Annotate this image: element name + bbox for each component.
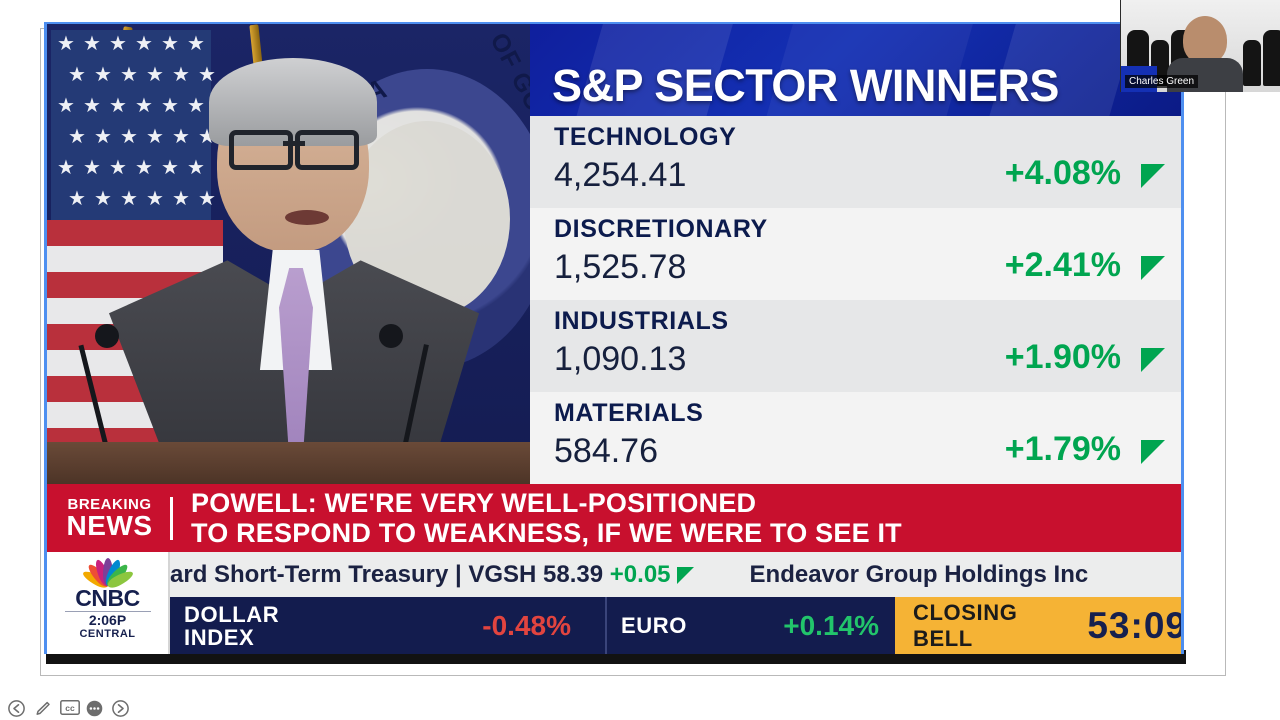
flag-star: ★ bbox=[68, 65, 86, 85]
sector-change: +1.79% bbox=[1005, 430, 1121, 469]
headline-line-1: POWELL: WE'RE VERY WELL-POSITIONED bbox=[191, 488, 902, 519]
flag-star: ★ bbox=[187, 158, 205, 178]
flag-star: ★ bbox=[198, 189, 216, 209]
clock-suffix: P bbox=[117, 612, 126, 628]
sector-trend-arrow-icon bbox=[1141, 348, 1165, 372]
dollar-index-label: DOLLAR INDEX bbox=[184, 603, 279, 649]
closing-bell-label: CLOSING BELL bbox=[913, 600, 1061, 652]
closing-bell-segment: CLOSING BELL 53:09 bbox=[895, 597, 1184, 654]
ticker-items: ard Short-Term Treasury | VGSH 58.39 +0.… bbox=[170, 561, 1088, 589]
panel-header: S&P SECTOR WINNERS bbox=[530, 24, 1184, 116]
sector-name: TECHNOLOGY bbox=[554, 123, 736, 152]
webcam-thumbnail[interactable]: Charles Green bbox=[1120, 0, 1280, 92]
flag-star: ★ bbox=[146, 189, 164, 209]
flag-star: ★ bbox=[172, 127, 190, 147]
euro-label: EURO bbox=[621, 614, 687, 637]
clock-value: 2:06 bbox=[89, 612, 117, 628]
ticker-item-2-name: Endeavor Group Holdings Inc bbox=[750, 561, 1089, 588]
cnbc-logo-block: CNBC 2:06P CENTRAL bbox=[47, 552, 170, 654]
chess-piece-icon bbox=[1243, 40, 1261, 86]
flag-star: ★ bbox=[94, 65, 112, 85]
stock-ticker-strip: ard Short-Term Treasury | VGSH 58.39 +0.… bbox=[47, 552, 1184, 597]
flag-star: ★ bbox=[135, 158, 153, 178]
flag-star: ★ bbox=[146, 127, 164, 147]
broadcast-timezone: CENTRAL bbox=[79, 628, 135, 640]
sector-value: 4,254.41 bbox=[554, 156, 686, 195]
dollar-label-line-1: DOLLAR bbox=[184, 603, 279, 626]
flag-star: ★ bbox=[135, 96, 153, 116]
chess-piece-icon bbox=[1263, 30, 1280, 86]
flag-star: ★ bbox=[57, 34, 75, 54]
flag-star: ★ bbox=[161, 34, 179, 54]
euro-change: +0.14% bbox=[783, 610, 879, 642]
flag-star: ★ bbox=[109, 158, 127, 178]
sector-change: +2.41% bbox=[1005, 246, 1121, 285]
ticker-trend-arrow-icon bbox=[677, 567, 694, 584]
flag-star: ★ bbox=[120, 127, 138, 147]
panel-title: S&P SECTOR WINNERS bbox=[552, 60, 1059, 112]
badge-line-2: NEWS bbox=[55, 512, 164, 540]
flag-star: ★ bbox=[187, 96, 205, 116]
flag-star: ★ bbox=[172, 65, 190, 85]
closed-caption-icon[interactable]: cc bbox=[60, 700, 77, 717]
closing-bell-countdown: 53:09 bbox=[1087, 605, 1184, 647]
glasses-bridge bbox=[283, 141, 305, 146]
flag-star: ★ bbox=[83, 34, 101, 54]
pen-icon[interactable] bbox=[34, 700, 51, 717]
microphone-head-right bbox=[379, 324, 403, 348]
flag-star: ★ bbox=[68, 127, 86, 147]
flag-star: ★ bbox=[68, 189, 86, 209]
sector-name: INDUSTRIALS bbox=[554, 307, 729, 336]
breaking-news-badge: BREAKING NEWS bbox=[55, 497, 173, 540]
flag-star: ★ bbox=[94, 189, 112, 209]
sector-change: +4.08% bbox=[1005, 154, 1121, 193]
powell-glasses bbox=[229, 130, 359, 160]
sector-row-industrials: INDUSTRIALS 1,090.13 +1.90% bbox=[530, 300, 1184, 392]
flag-star: ★ bbox=[109, 34, 127, 54]
flag-star: ★ bbox=[57, 96, 75, 116]
flag-star: ★ bbox=[120, 65, 138, 85]
broadcast-video[interactable]: ★★★★★★★★★★★★★★★★★★★★★★★★★★★★★★★★★★★★ BOA… bbox=[44, 22, 1184, 654]
flag-star: ★ bbox=[135, 34, 153, 54]
dollar-index-change: -0.48% bbox=[482, 610, 571, 642]
svg-text:cc: cc bbox=[65, 703, 75, 713]
breaking-news-banner: BREAKING NEWS POWELL: WE'RE VERY WELL-PO… bbox=[47, 484, 1184, 552]
flag-star: ★ bbox=[83, 96, 101, 116]
cnbc-peacock-icon bbox=[79, 556, 137, 586]
ticker-item-1-name: ard Short-Term Treasury | bbox=[170, 561, 468, 588]
participant-face bbox=[1183, 16, 1227, 64]
breaking-news-headline: POWELL: WE'RE VERY WELL-POSITIONED TO RE… bbox=[191, 488, 902, 549]
sector-row-discretionary: DISCRETIONARY 1,525.78 +2.41% bbox=[530, 208, 1184, 300]
us-flag-union: ★★★★★★★★★★★★★★★★★★★★★★★★★★★★★★★★★★★★ bbox=[51, 30, 211, 225]
flag-star: ★ bbox=[120, 189, 138, 209]
dollar-label-line-2: INDEX bbox=[184, 626, 279, 649]
flag-star: ★ bbox=[161, 158, 179, 178]
ticker-item-1-change: +0.05 bbox=[610, 561, 671, 588]
flag-star: ★ bbox=[109, 96, 127, 116]
sector-name: MATERIALS bbox=[554, 399, 703, 428]
cnbc-wordmark: CNBC bbox=[75, 586, 139, 610]
microphone-head-left bbox=[95, 324, 119, 348]
sector-row-materials: MATERIALS 584.76 +1.79% bbox=[530, 392, 1184, 484]
participant-name-label: Charles Green bbox=[1125, 75, 1198, 88]
sector-value: 1,090.13 bbox=[554, 340, 686, 379]
flag-star: ★ bbox=[83, 158, 101, 178]
flag-star: ★ bbox=[146, 65, 164, 85]
flag-star: ★ bbox=[198, 65, 216, 85]
back-arrow-icon[interactable] bbox=[8, 700, 25, 717]
sector-value: 1,525.78 bbox=[554, 248, 686, 287]
sector-change: +1.90% bbox=[1005, 338, 1121, 377]
flag-star: ★ bbox=[57, 158, 75, 178]
sector-value: 584.76 bbox=[554, 432, 658, 471]
podium bbox=[47, 442, 530, 484]
more-options-icon[interactable] bbox=[86, 700, 103, 717]
flag-star: ★ bbox=[94, 127, 112, 147]
sector-row-technology: TECHNOLOGY 4,254.41 +4.08% bbox=[530, 116, 1184, 208]
flag-star: ★ bbox=[161, 96, 179, 116]
ticker-item-1-symbol: VGSH 58.39 bbox=[468, 561, 609, 588]
forward-arrow-icon[interactable] bbox=[112, 700, 129, 717]
sector-trend-arrow-icon bbox=[1141, 256, 1165, 280]
market-data-bar: CNBC 2:06P CENTRAL DOLLAR INDEX -0.48% E… bbox=[47, 597, 1184, 654]
powell-press-conference-photo: ★★★★★★★★★★★★★★★★★★★★★★★★★★★★★★★★★★★★ BOA… bbox=[47, 24, 530, 484]
sector-name: DISCRETIONARY bbox=[554, 215, 768, 244]
flag-star: ★ bbox=[172, 189, 190, 209]
presentation-toolbar: cc bbox=[8, 698, 129, 718]
sector-trend-arrow-icon bbox=[1141, 440, 1165, 464]
dollar-index-segment: DOLLAR INDEX -0.48% bbox=[170, 597, 607, 654]
euro-segment: EURO +0.14% bbox=[607, 597, 895, 654]
headline-line-2: TO RESPOND TO WEAKNESS, IF WE WERE TO SE… bbox=[191, 518, 902, 549]
flag-star: ★ bbox=[187, 34, 205, 54]
powell-mouth bbox=[285, 210, 329, 225]
broadcast-clock: 2:06P bbox=[89, 613, 126, 628]
sp-sector-winners-panel: S&P SECTOR WINNERS TECHNOLOGY 4,254.41 +… bbox=[530, 24, 1184, 484]
sector-trend-arrow-icon bbox=[1141, 164, 1165, 188]
